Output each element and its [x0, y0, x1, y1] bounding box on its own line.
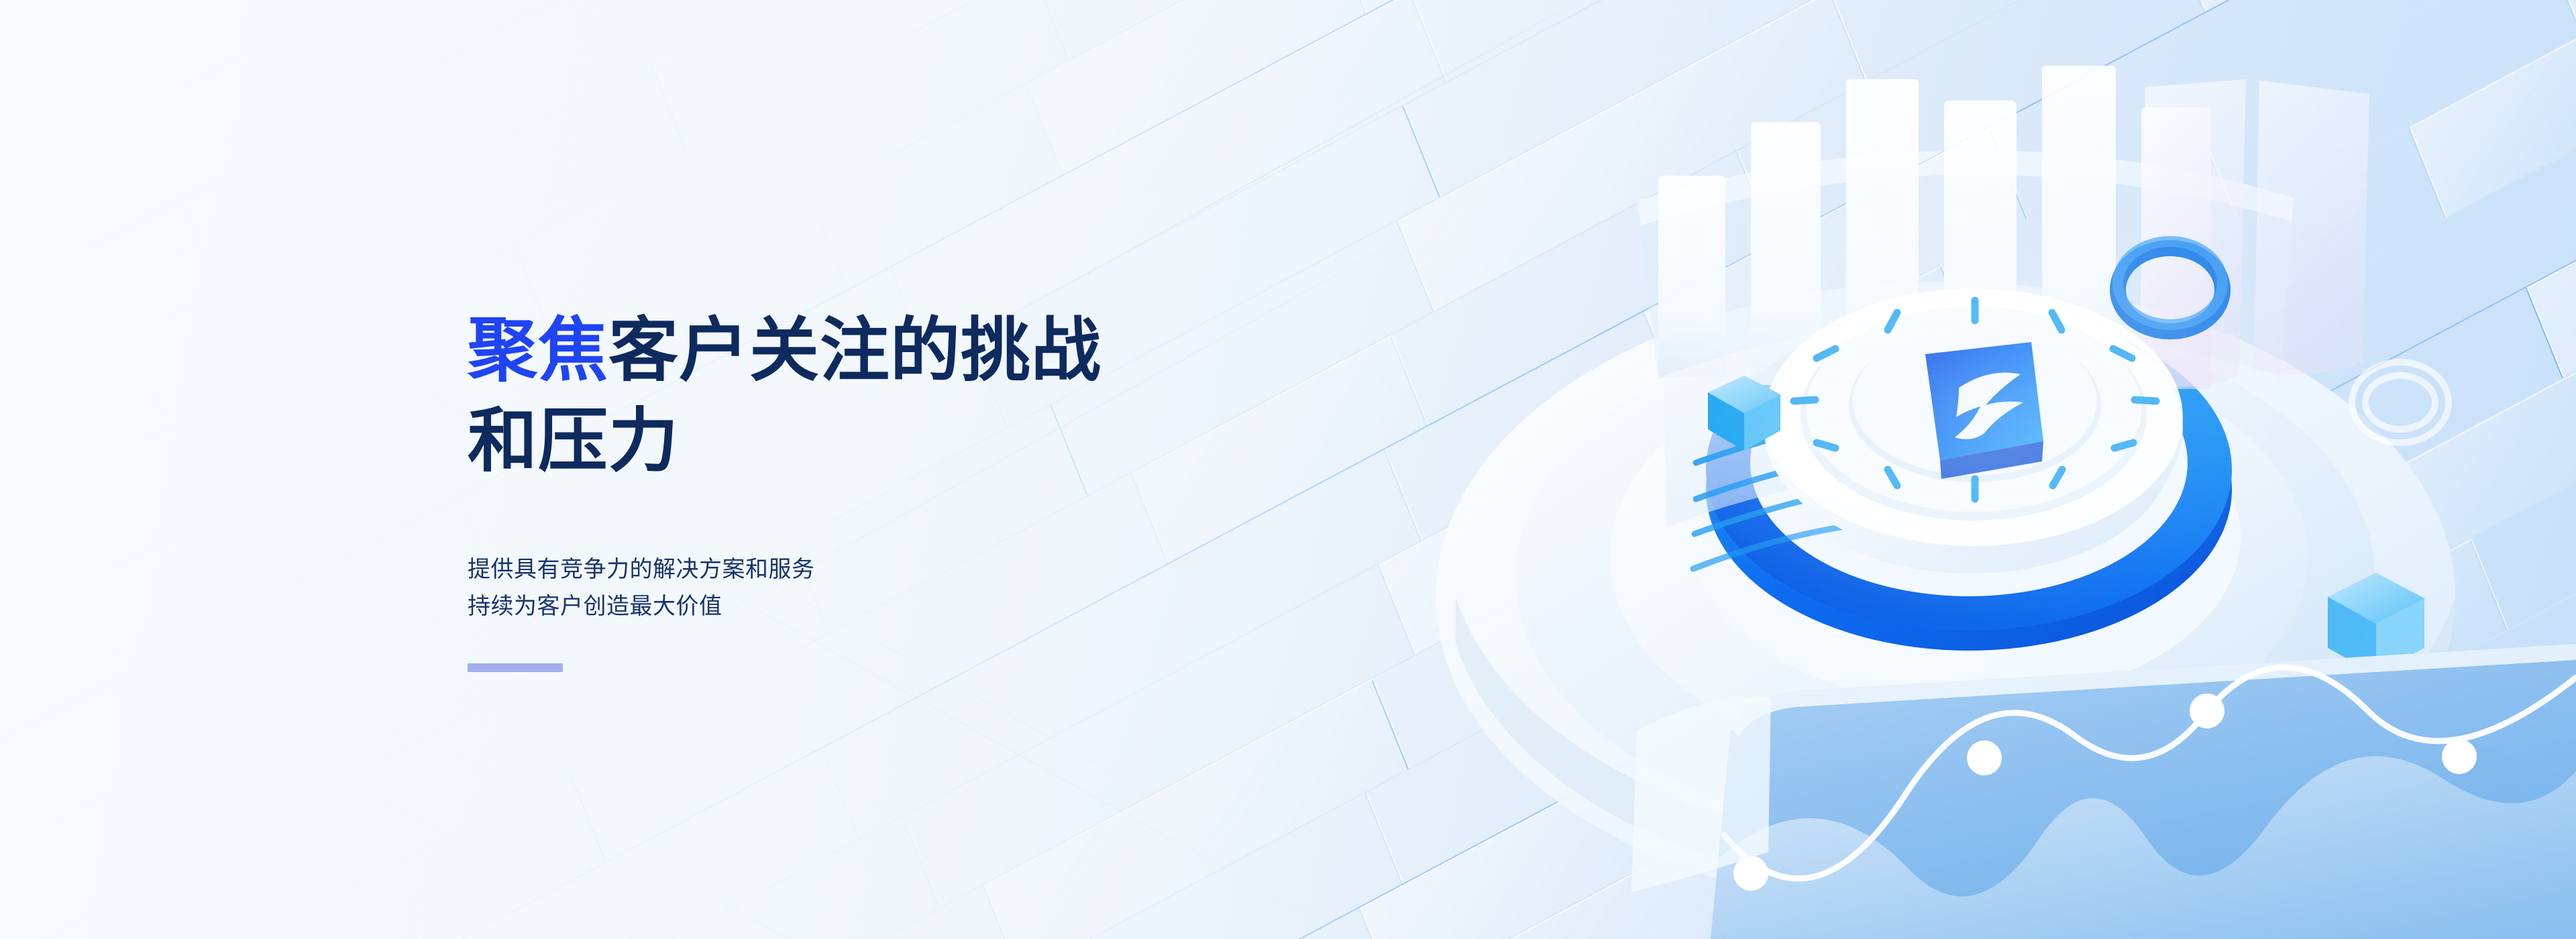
chart-marker: [2442, 739, 2477, 774]
page-title: 聚焦客户关注的挑战 和压力: [468, 306, 1273, 487]
center-glow: [1625, 181, 2322, 624]
hero-subtitle: 提供具有竞争力的解决方案和服务 持续为客户创造最大价值: [468, 487, 1273, 625]
chart-marker: [1967, 740, 2002, 775]
accent-bar: [468, 663, 563, 672]
headline-line2: 和压力: [468, 396, 1273, 487]
subtitle-line-2: 持续为客户创造最大价值: [468, 588, 1273, 625]
hero-illustration: [1395, 0, 2576, 939]
subtitle-line-1: 提供具有竞争力的解决方案和服务: [468, 551, 1273, 588]
glass-torus-secondary: [2359, 369, 2442, 436]
illustration-svg: [1395, 0, 2576, 939]
chart-marker: [2190, 694, 2224, 728]
headline-rest: 客户关注的挑战: [608, 312, 1102, 390]
hero-copy: 聚焦客户关注的挑战 和压力 提供具有竞争力的解决方案和服务 持续为客户创造最大价…: [468, 306, 1273, 672]
headline-accent: 聚焦: [468, 312, 608, 390]
hero-banner: 聚焦客户关注的挑战 和压力 提供具有竞争力的解决方案和服务 持续为客户创造最大价…: [0, 0, 2576, 939]
